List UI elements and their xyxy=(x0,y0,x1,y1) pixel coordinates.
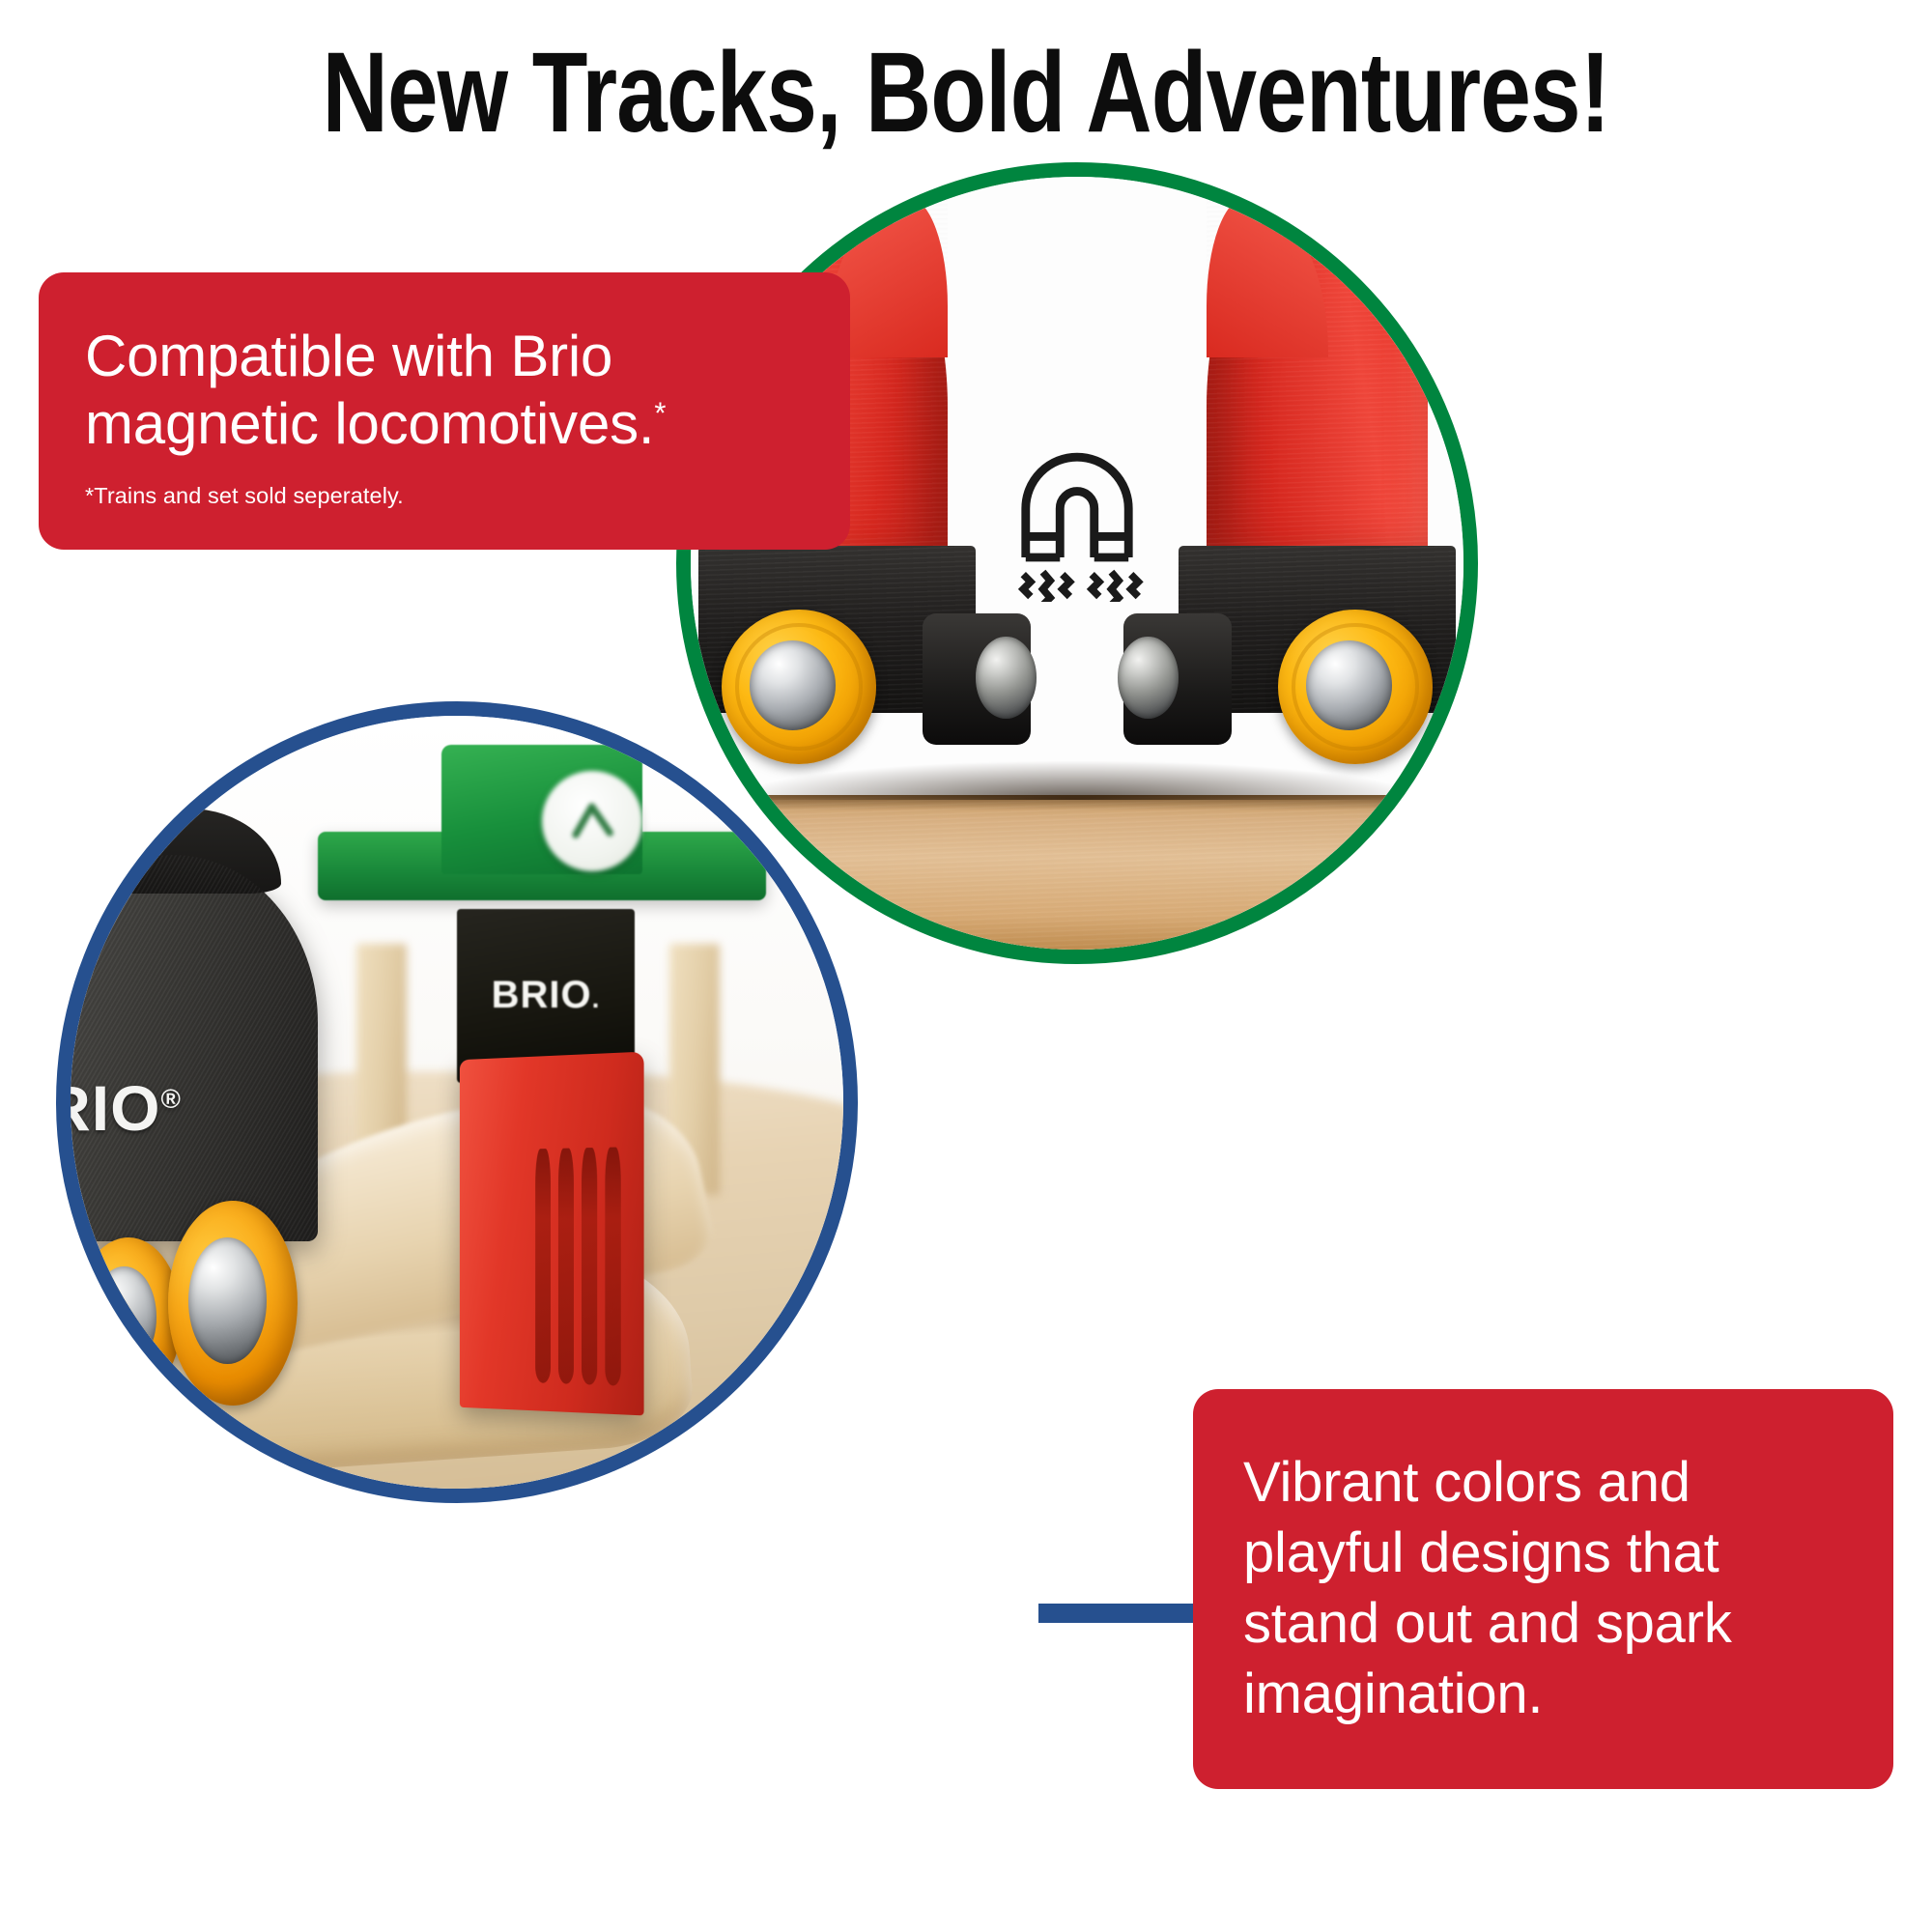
wheel-front xyxy=(75,1237,182,1401)
coupler-magnet-ball xyxy=(1118,637,1179,718)
callout-box-compatibility: Compatible with Brio magnetic locomotive… xyxy=(39,272,850,550)
red-buffer-stop xyxy=(460,1052,644,1416)
photo-station-scene: BRIO. RIO® xyxy=(71,716,843,1489)
wheel-magnet-hub xyxy=(92,1266,156,1368)
callout-box-vibrant: Vibrant colors and playful designs that … xyxy=(1193,1389,1893,1789)
wheel-magnet-hub xyxy=(1306,640,1393,730)
station-sign-dot: . xyxy=(592,983,601,1013)
locomotive-wheels xyxy=(71,1179,302,1442)
callout-circle-station-scene: BRIO. RIO® xyxy=(56,701,858,1503)
page-title: New Tracks, Bold Adventures! xyxy=(193,33,1739,154)
wheel-magnet-hub xyxy=(188,1237,267,1365)
callout-text: Vibrant colors and playful designs that … xyxy=(1243,1447,1843,1729)
callout-text: Compatible with Brio magnetic locomotive… xyxy=(85,323,804,457)
coupler-magnet-ball xyxy=(976,637,1037,718)
station-clock-icon xyxy=(542,771,642,871)
wheel-outer-right xyxy=(1278,610,1433,764)
locomotive-brand-label: RIO® xyxy=(71,1071,182,1145)
marketing-image-canvas: New Tracks, Bold Adventures! xyxy=(0,0,1932,1932)
magnetic-coupler-right xyxy=(1123,613,1232,745)
footnote-marker-icon: * xyxy=(654,396,666,430)
station-sign-label: BRIO xyxy=(492,974,592,1016)
buffer-slots xyxy=(535,1147,621,1385)
magnetic-coupler-left xyxy=(923,613,1031,745)
callout-footnote: *Trains and set sold seperately. xyxy=(85,482,804,510)
magnet-icon xyxy=(1004,440,1151,602)
wheel-rear xyxy=(168,1201,298,1406)
registered-trademark-icon: ® xyxy=(160,1084,181,1114)
